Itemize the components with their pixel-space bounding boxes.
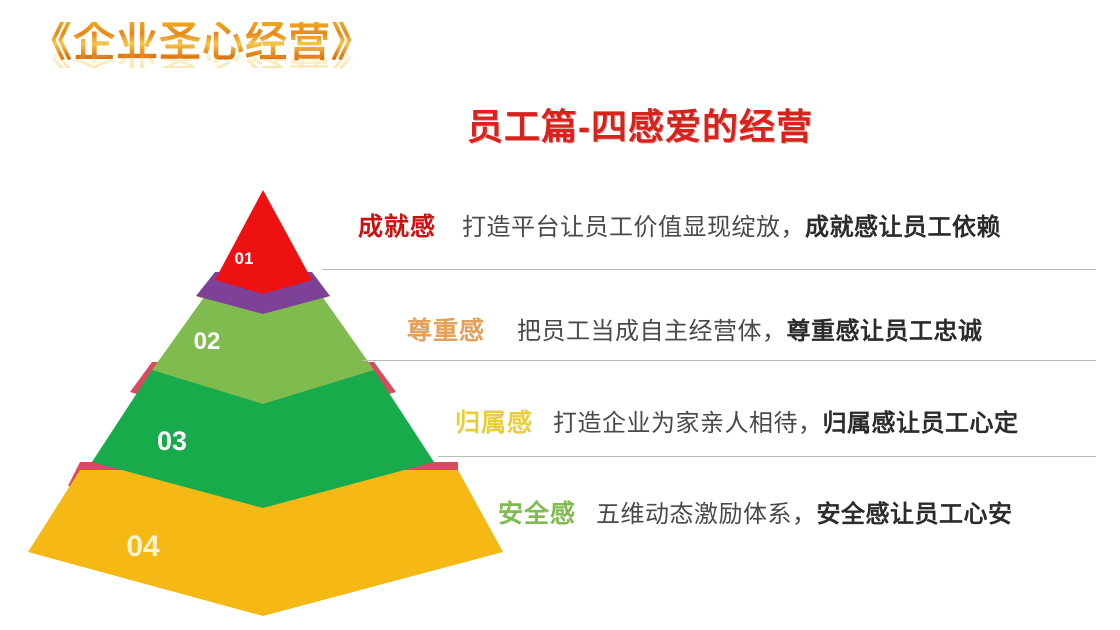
content-rows: 成就感 打造平台让员工价值显现绽放，成就感让员工依赖 尊重感 把员工当成自主经营… (0, 0, 1120, 630)
row-4-description-emphasis: 安全感让员工心安 (817, 502, 1013, 528)
row-3-description: 打造企业为家亲人相待，归属感让员工心定 (553, 403, 1019, 438)
row-2-description-emphasis: 尊重感让员工忠诚 (787, 319, 983, 345)
row-divider-3 (438, 456, 1096, 457)
row-4-description: 五维动态激励体系，安全感让员工心安 (596, 494, 1013, 529)
row-1-description: 打造平台让员工价值显现绽放，成就感让员工依赖 (462, 207, 1001, 242)
row-divider-1 (322, 269, 1096, 270)
row-1-description-emphasis: 成就感让员工依赖 (805, 215, 1001, 241)
row-2-description: 把员工当成自主经营体，尊重感让员工忠诚 (517, 311, 983, 346)
row-2-description-plain: 把员工当成自主经营体， (517, 319, 787, 345)
row-1-key: 成就感 (358, 207, 436, 243)
row-4-key: 安全感 (498, 494, 576, 530)
row-3-key: 归属感 (455, 403, 533, 439)
row-3-description-emphasis: 归属感让员工心定 (823, 411, 1019, 437)
content-row-4: 安全感 五维动态激励体系，安全感让员工心安 (498, 494, 1013, 530)
row-1-description-plain: 打造平台让员工价值显现绽放， (462, 215, 805, 241)
content-row-3: 归属感 打造企业为家亲人相待，归属感让员工心定 (455, 403, 1019, 439)
content-row-1: 成就感 打造平台让员工价值显现绽放，成就感让员工依赖 (358, 207, 1001, 243)
row-4-description-plain: 五维动态激励体系， (596, 502, 817, 528)
content-row-2: 尊重感 把员工当成自主经营体，尊重感让员工忠诚 (407, 311, 983, 347)
row-divider-2 (362, 360, 1096, 361)
row-3-description-plain: 打造企业为家亲人相待， (553, 411, 823, 437)
row-2-key: 尊重感 (407, 311, 485, 347)
